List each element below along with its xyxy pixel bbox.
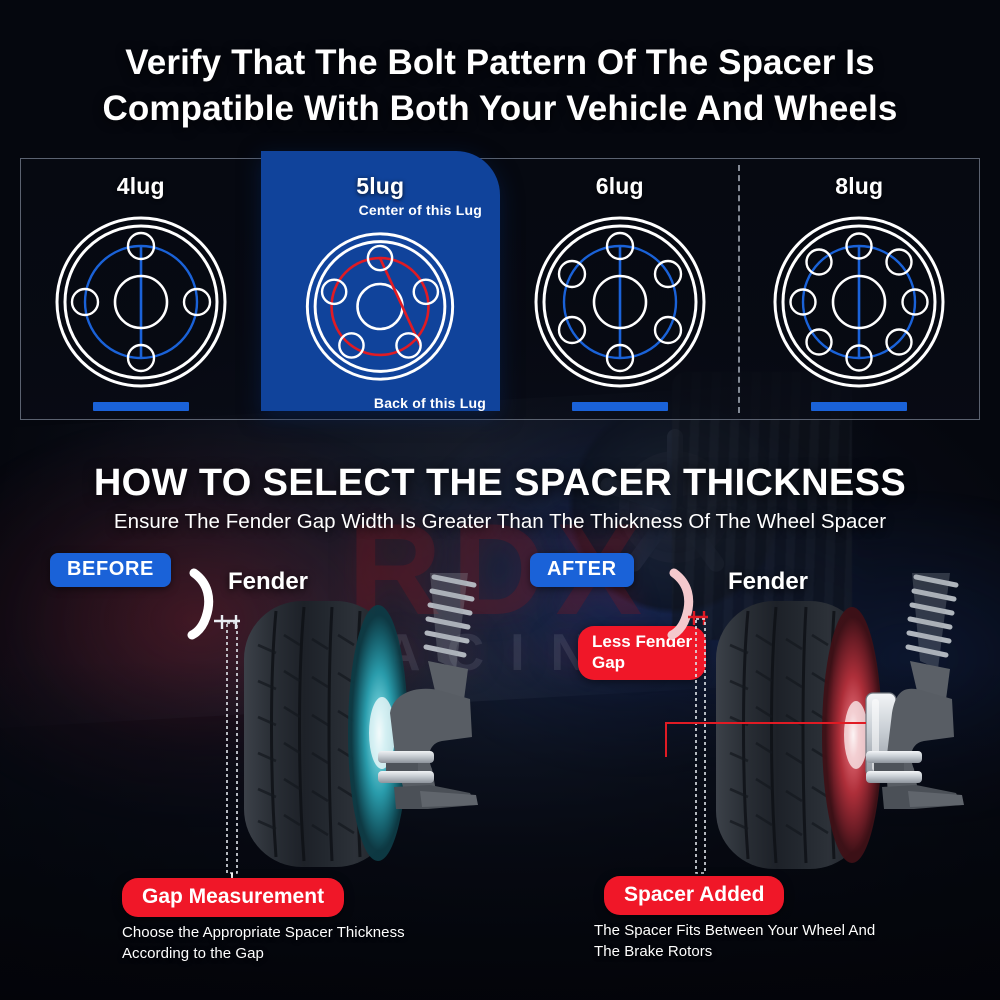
lug-note-center: Center of this Lug xyxy=(359,202,482,218)
before-caption-line-2: According to the Gap xyxy=(122,943,405,964)
lug-diagram-6 xyxy=(520,202,720,402)
lug-diagram-4 xyxy=(41,202,241,402)
lug-note-back: Back of this Lug xyxy=(374,395,486,411)
lug-panel-title: 8lug xyxy=(835,173,883,200)
after-wheel-illustration xyxy=(660,565,980,895)
infographic-root: RDX RACING Verify That The Bolt Pattern … xyxy=(0,0,1000,1000)
after-caption: The Spacer Fits Between Your Wheel And T… xyxy=(594,920,875,963)
before-caption: Choose the Appropriate Spacer Thickness … xyxy=(122,922,405,965)
lug-panel-title: 6lug xyxy=(596,173,644,200)
section-title: HOW TO SELECT THE SPACER THICKNESS xyxy=(0,462,1000,505)
lug-panel-underline xyxy=(811,402,907,411)
after-caption-line-2: The Brake Rotors xyxy=(594,941,875,962)
before-badge: BEFORE xyxy=(50,553,171,587)
after-callout-badge: Spacer Added xyxy=(604,876,784,915)
before-wheel-illustration xyxy=(180,565,480,895)
page-title: Verify That The Bolt Pattern Of The Spac… xyxy=(0,40,1000,132)
lug-panel-8lug[interactable]: 8lug xyxy=(740,159,980,419)
before-caption-line-1: Choose the Appropriate Spacer Thickness xyxy=(122,922,405,943)
lug-panel-underline xyxy=(93,402,189,411)
lug-diagram-5 xyxy=(280,220,480,393)
lug-panel-title: 4lug xyxy=(117,173,165,200)
lug-panel-title: 5lug xyxy=(356,173,404,200)
headline-line-1: Verify That The Bolt Pattern Of The Spac… xyxy=(0,40,1000,86)
lug-diagram-8 xyxy=(759,202,959,402)
lug-panel-5lug[interactable]: 5lug Center of this Lug Back of this Lug xyxy=(261,151,501,411)
after-caption-line-1: The Spacer Fits Between Your Wheel And xyxy=(594,920,875,941)
bolt-pattern-comparison-strip: 4lug 5lug Center of this Lug xyxy=(20,158,980,420)
after-badge: AFTER xyxy=(530,553,634,587)
lug-panel-4lug[interactable]: 4lug xyxy=(21,159,261,419)
lug-panel-underline xyxy=(572,402,668,411)
before-callout-badge: Gap Measurement xyxy=(122,878,344,917)
headline-line-2: Compatible With Both Your Vehicle And Wh… xyxy=(0,86,1000,132)
section-subtitle: Ensure The Fender Gap Width Is Greater T… xyxy=(0,510,1000,534)
lug-panel-6lug[interactable]: 6lug xyxy=(500,159,740,419)
